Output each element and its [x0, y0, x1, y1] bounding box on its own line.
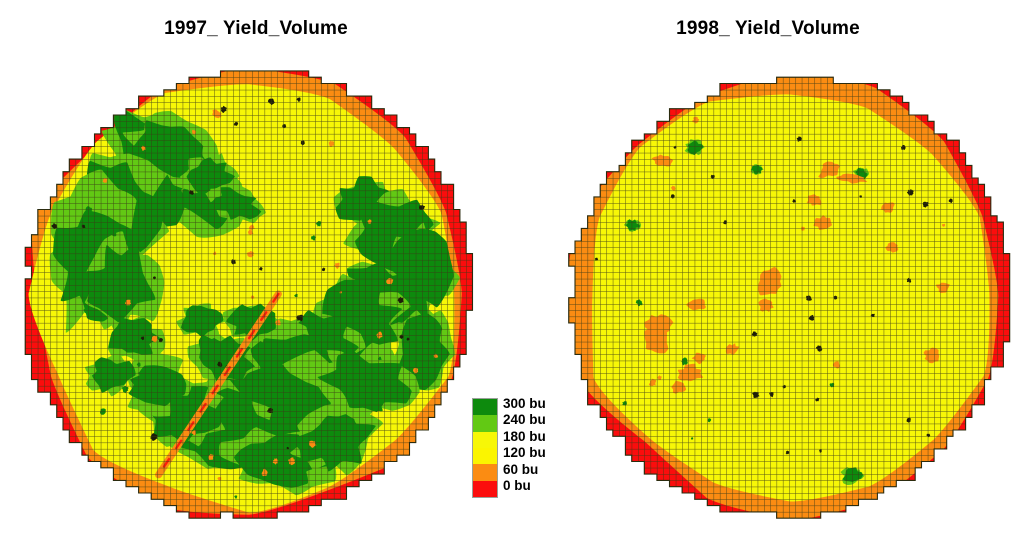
yield-legend: 300 bu240 bu180 bu120 bu60 bu0 bu	[470, 396, 578, 502]
legend-swatch-0	[473, 481, 497, 497]
legend-label-300: 300 bu	[503, 396, 577, 412]
legend-swatch-240	[473, 415, 497, 431]
legend-color-ramp	[472, 398, 498, 498]
legend-label-0: 0 bu	[503, 478, 577, 494]
yield-map-1997[interactable]	[0, 52, 512, 532]
page-title-1997: 1997_ Yield_Volume	[0, 18, 512, 40]
legend-swatch-120	[473, 448, 497, 464]
legend-label-120: 120 bu	[503, 445, 577, 461]
yield-map-1998[interactable]	[512, 52, 1024, 532]
page-title-1998: 1998_ Yield_Volume	[512, 18, 1024, 40]
map-panel-1998: 1998_ Yield_Volume	[512, 0, 1024, 537]
yield-map-1998-svg	[512, 52, 1024, 532]
legend-label-list: 300 bu240 bu180 bu120 bu60 bu0 bu	[503, 396, 577, 500]
legend-label-180: 180 bu	[503, 429, 577, 445]
legend-label-240: 240 bu	[503, 412, 577, 428]
legend-label-60: 60 bu	[503, 462, 577, 478]
legend-swatch-300	[473, 399, 497, 415]
yield-map-1997-svg	[0, 52, 512, 532]
legend-swatch-60	[473, 464, 497, 480]
legend-swatch-180	[473, 432, 497, 448]
map-panel-1997: 1997_ Yield_Volume	[0, 0, 512, 537]
